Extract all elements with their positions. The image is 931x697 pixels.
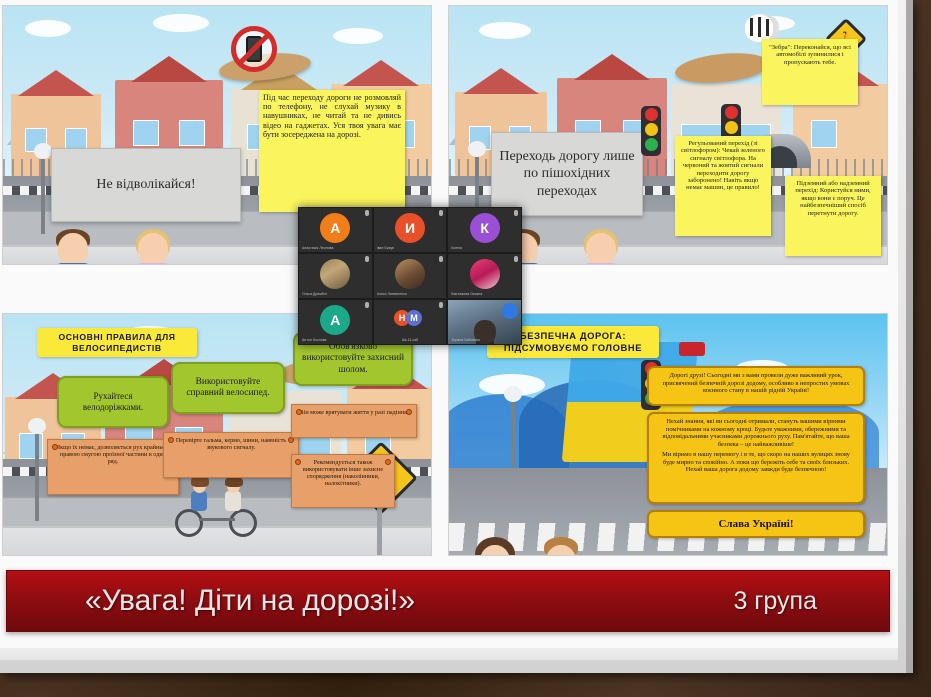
note-no-distraction: Під час переходу дороги не розмовляй по … [259, 90, 405, 212]
mic-icon [365, 256, 369, 262]
participant-name: Зоряна Бабченко [451, 338, 518, 342]
banner-group: 3 група [733, 587, 817, 616]
traffic-light-icon [641, 106, 661, 156]
mic-icon [514, 256, 518, 262]
no-phone-icon [231, 26, 277, 72]
cloud [25, 20, 71, 37]
participant-tile[interactable]: Ольга Дрямбот [299, 254, 372, 298]
sign-board-attention: Не відволікайся! [51, 148, 241, 222]
rule-helmet-detail-2: Рекомендується також використовувати інш… [291, 454, 395, 508]
rule-bike-lanes-detail: Якщо їх немає, дозволяється рух крайньою… [47, 439, 179, 495]
title-banner: «Увага! Діти на дорозі!» 3 група [6, 570, 890, 632]
avatar: И [395, 213, 425, 243]
participant-name: Ольга Дрямбот [302, 292, 369, 296]
note-zebra: "Зебра": Переконайся, що всі автомобілі … [762, 39, 858, 105]
avatar-pair: Н М [398, 310, 422, 326]
participant-name: Іван Бикув [377, 246, 444, 250]
rule-working-bike-detail: Перевірте гальма, кермо, шини, наявність… [163, 432, 299, 478]
projection-screen: Не відволікайся! Під час переходу дороги… [0, 0, 898, 660]
card-wishes: Нехай знання, які ви сьогодні отримали, … [647, 412, 865, 504]
participant-tile[interactable]: И Іван Бикув [374, 208, 447, 252]
cloud [153, 14, 209, 32]
avatar [470, 259, 500, 289]
avatar: А [320, 305, 350, 335]
sign-board-crossings: Переходь дорогу лише по пішохідних перех… [491, 132, 643, 216]
zebra-mascot-icon [745, 14, 779, 42]
mic-icon [439, 256, 443, 262]
slide-summary[interactable]: БЕЗПЕЧНА ДОРОГА: ПІДСУМОВУЄМО ГОЛОВНЕ До… [448, 313, 888, 556]
participant-name: Ксенія [451, 246, 518, 250]
participant-tile[interactable]: Алекс Литвиненко [374, 254, 447, 298]
participant-name: Анастасія Леонова [302, 246, 369, 250]
screen-bottom-margin [0, 648, 898, 660]
rule-bike-lanes-title: Рухайтеся велодоріжками. [57, 376, 169, 428]
participant-tile[interactable]: Н М Шк-11 каб [374, 300, 447, 344]
avatar: К [470, 213, 500, 243]
card-intro: Дорогі друзі! Сьогодні ми з вами провели… [647, 366, 865, 406]
cloud [333, 28, 383, 44]
avatar [395, 259, 425, 289]
participant-tile[interactable]: А Антон Козлова [299, 300, 372, 344]
street-lamp [41, 154, 45, 234]
rule-helmet-detail: Він може врятувати життя у разі падіння. [291, 404, 417, 438]
participant-name: Антон Козлова [302, 338, 369, 342]
note-traffic-light: Регульований перехід (зі світлофором): Ч… [675, 136, 771, 236]
avatar: М [406, 310, 422, 326]
traffic-signal-icon [679, 342, 705, 356]
video-call-grid[interactable]: А Анастасія Леонова И Іван Бикув К Ксені… [298, 207, 522, 345]
participant-name: Шк-11 каб [377, 338, 444, 342]
card-slogan: Слава Україні! [647, 510, 865, 538]
note-underpass: Підземний або надземний перехід: Користу… [785, 176, 881, 256]
participant-name: Алекс Литвиненко [377, 292, 444, 296]
mic-icon [439, 302, 443, 308]
room-backdrop: Не відволікайся! Під час переходу дороги… [0, 0, 931, 697]
headline-cyclist-rules: ОСНОВНІ ПРАВИЛА ДЛЯ ВЕЛОСИПЕДИСТІВ [37, 328, 197, 357]
street-lamp [35, 429, 39, 521]
mic-icon [439, 210, 443, 216]
status-badge [502, 303, 518, 319]
mic-icon [365, 302, 369, 308]
participant-tile[interactable]: К Ксенія [448, 208, 521, 252]
participant-tile[interactable]: Вастюкова Оксана [448, 254, 521, 298]
cyclists-illustration [171, 481, 267, 537]
mic-icon [365, 210, 369, 216]
participant-tile-active-speaker[interactable]: Зоряна Бабченко [448, 300, 521, 344]
sign-post [377, 504, 382, 556]
banner-title: «Увага! Діти на дорозі!» [85, 584, 415, 618]
slide-cyclists[interactable]: ⬆ ОСНОВНІ ПРАВИЛА ДЛЯ ВЕЛОСИПЕДИСТІВ Рух… [2, 313, 432, 556]
avatar [320, 259, 350, 289]
projection-screen-frame: Не відволікайся! Під час переходу дороги… [0, 0, 913, 673]
participant-tile[interactable]: А Анастасія Леонова [299, 208, 372, 252]
rule-working-bike-title: Використовуйте справний велосипед. [171, 362, 285, 414]
avatar: А [320, 213, 350, 243]
cloud [479, 22, 531, 39]
mic-icon [514, 210, 518, 216]
street-lamp [511, 397, 515, 467]
participant-name: Вастюкова Оксана [451, 292, 518, 296]
